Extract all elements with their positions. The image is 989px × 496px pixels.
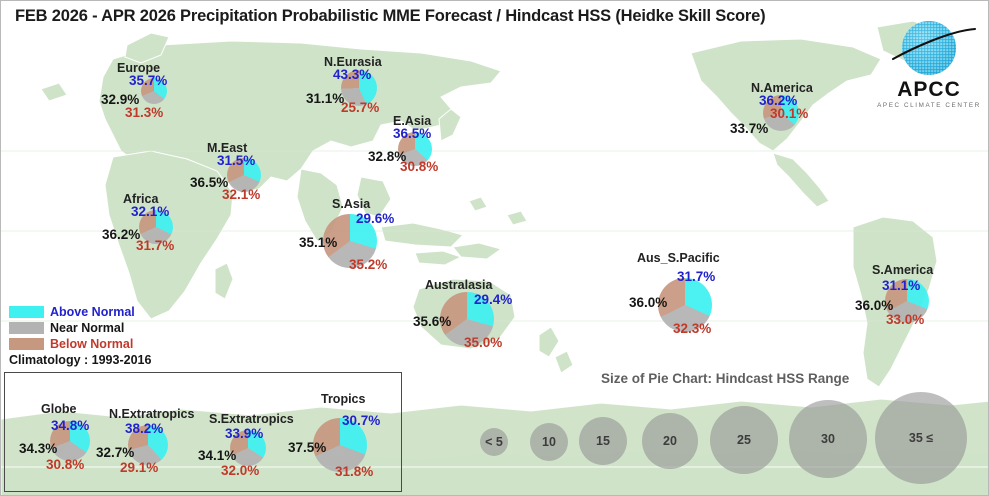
size-bubble-20: 20 [642, 413, 698, 469]
legend-row-above: Above Normal [9, 304, 151, 319]
aggregate-panel [4, 372, 402, 492]
size-bubble-label: 25 [710, 433, 778, 447]
size-bubble-5: < 5 [480, 428, 508, 456]
size-bubble-label: 30 [789, 432, 867, 446]
size-bubble-10: 10 [530, 423, 568, 461]
legend-row-near: Near Normal [9, 320, 151, 335]
size-bubble-label: 10 [530, 435, 568, 449]
size-bubble-30: 30 [789, 400, 867, 478]
near-normal-swatch [9, 322, 44, 334]
near-normal-label: Near Normal [50, 321, 124, 335]
size-legend-title: Size of Pie Chart: Hindcast HSS Range [601, 371, 849, 386]
climatology-label: Climatology : 1993-2016 [9, 353, 151, 367]
size-bubble-label: 35 ≤ [875, 431, 967, 445]
category-legend: Above Normal Near Normal Below Normal Cl… [9, 304, 151, 367]
size-bubble-35: 35 ≤ [875, 392, 967, 484]
below-normal-label: Below Normal [50, 337, 133, 351]
legend-row-below: Below Normal [9, 336, 151, 351]
size-bubble-label: < 5 [480, 435, 508, 449]
forecast-map-page: FEB 2026 - APR 2026 Precipitation Probab… [0, 0, 989, 496]
size-bubble-25: 25 [710, 406, 778, 474]
below-normal-swatch [9, 338, 44, 350]
above-normal-label: Above Normal [50, 305, 135, 319]
size-bubble-label: 15 [579, 434, 627, 448]
size-bubble-15: 15 [579, 417, 627, 465]
size-bubble-label: 20 [642, 434, 698, 448]
above-normal-swatch [9, 306, 44, 318]
